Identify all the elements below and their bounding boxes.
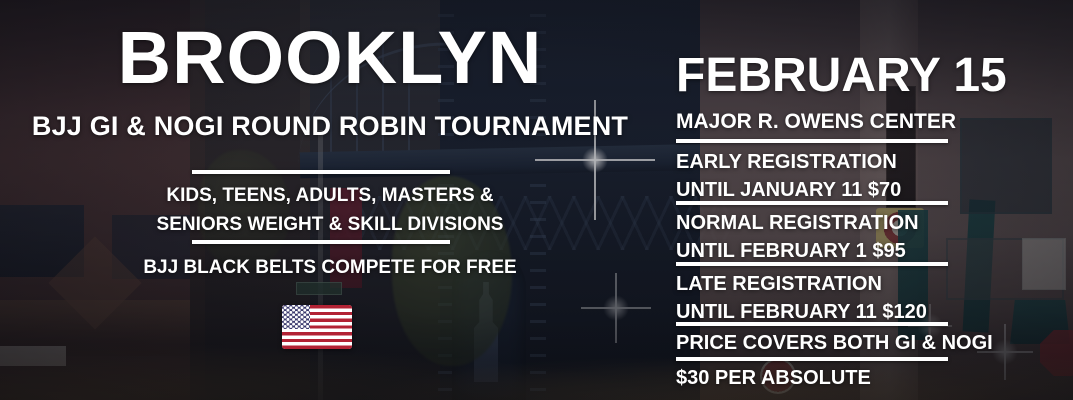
divisions-block: KIDS, TEENS, ADULTS, MASTERS & SENIORS W… xyxy=(0,182,660,239)
divisions-line-1: KIDS, TEENS, ADULTS, MASTERS & xyxy=(0,182,660,211)
registration-row-early: EARLY REGISTRATION UNTIL JANUARY 11 $70 xyxy=(676,148,901,205)
absolute-fee-note: $30 PER ABSOLUTE xyxy=(676,364,871,392)
flag-canton xyxy=(282,305,310,329)
united-states-flag-icon xyxy=(282,305,352,349)
registration-row-late: LATE REGISTRATION UNTIL FEBRUARY 11 $120 xyxy=(676,270,927,327)
divider-rule-top xyxy=(192,170,450,174)
event-poster: BROOKLYN BJJ GI & NOGI ROUND ROBIN TOURN… xyxy=(0,0,1073,400)
divisions-line-2: SENIORS WEIGHT & SKILL DIVISIONS xyxy=(0,211,660,240)
right-column: FEBRUARY 15 MAJOR R. OWENS CENTER EARLY … xyxy=(660,0,1073,400)
row-label: EARLY REGISTRATION xyxy=(676,148,901,176)
event-subtitle: BJJ GI & NOGI ROUND ROBIN TOURNAMENT xyxy=(0,113,660,140)
page-title: BROOKLYN xyxy=(0,21,660,95)
row-label: LATE REGISTRATION xyxy=(676,270,927,298)
divider-rule-4 xyxy=(676,322,948,326)
divider-rule-bottom xyxy=(192,240,450,244)
divider-rule-5 xyxy=(676,357,948,361)
black-belt-note: BJJ BLACK BELTS COMPETE FOR FREE xyxy=(0,258,660,277)
divider-rule-3 xyxy=(676,262,948,266)
divider-rule-2 xyxy=(676,201,948,205)
event-venue: MAJOR R. OWENS CENTER xyxy=(676,111,956,132)
divider-rule-1 xyxy=(676,139,948,143)
row-label: PRICE COVERS BOTH GI & NOGI xyxy=(676,329,993,357)
left-column: BROOKLYN BJJ GI & NOGI ROUND ROBIN TOURN… xyxy=(0,0,660,400)
flag-stars xyxy=(282,305,310,329)
registration-row-normal: NORMAL REGISTRATION UNTIL FEBRUARY 1 $95 xyxy=(676,209,919,266)
poster-content: BROOKLYN BJJ GI & NOGI ROUND ROBIN TOURN… xyxy=(0,0,1073,400)
price-covers-note: PRICE COVERS BOTH GI & NOGI xyxy=(676,329,993,357)
row-label: NORMAL REGISTRATION xyxy=(676,209,919,237)
row-label: $30 PER ABSOLUTE xyxy=(676,364,871,392)
event-date: FEBRUARY 15 xyxy=(676,52,1007,100)
